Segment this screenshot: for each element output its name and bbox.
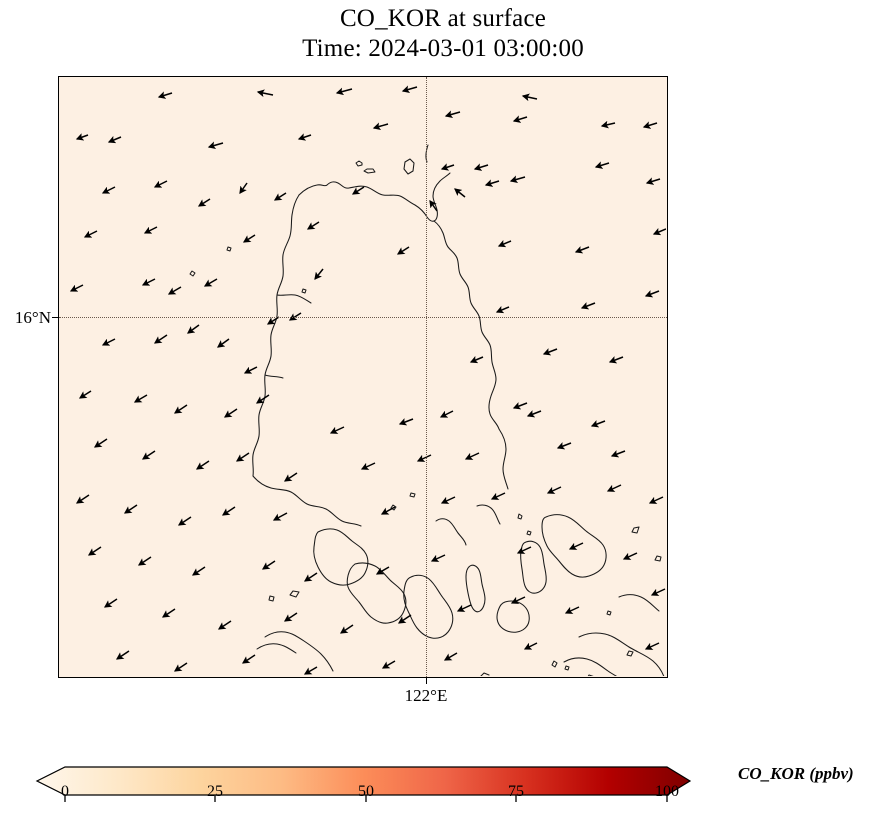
figure-title-block: CO_KOR at surface Time: 2024-03-01 03:00… <box>0 4 886 64</box>
x-axis-label-122e: 122°E <box>386 686 466 706</box>
y-axis-tick-16n <box>52 317 59 318</box>
wind-vector-arrows <box>71 87 666 674</box>
colorbar-tick-100: 100 <box>637 783 697 801</box>
gridline-longitude-122e <box>426 77 427 677</box>
coastline-and-vector-layer <box>59 77 666 676</box>
figure-subtitle: Time: 2024-03-01 03:00:00 <box>0 34 886 64</box>
colorbar[interactable]: 0 25 50 75 100 CO_KOR (ppbv) <box>0 752 886 836</box>
colorbar-tick-75: 75 <box>486 783 546 801</box>
colorbar-tick-0: 0 <box>35 783 95 801</box>
map-plot-area[interactable]: 16°N 122°E <box>58 76 668 678</box>
y-axis-label-16n: 16°N <box>1 308 51 328</box>
colorbar-title: CO_KOR (ppbv) <box>738 764 854 784</box>
colorbar-tick-25: 25 <box>185 783 245 801</box>
gridline-latitude-16n <box>59 317 667 318</box>
colorbar-gradient[interactable] <box>0 752 720 812</box>
map-canvas <box>59 77 667 677</box>
colorbar-tick-50: 50 <box>336 783 396 801</box>
coastline-paths <box>190 145 666 676</box>
x-axis-tick-122e <box>426 677 427 684</box>
page-title: CO_KOR at surface <box>0 4 886 34</box>
